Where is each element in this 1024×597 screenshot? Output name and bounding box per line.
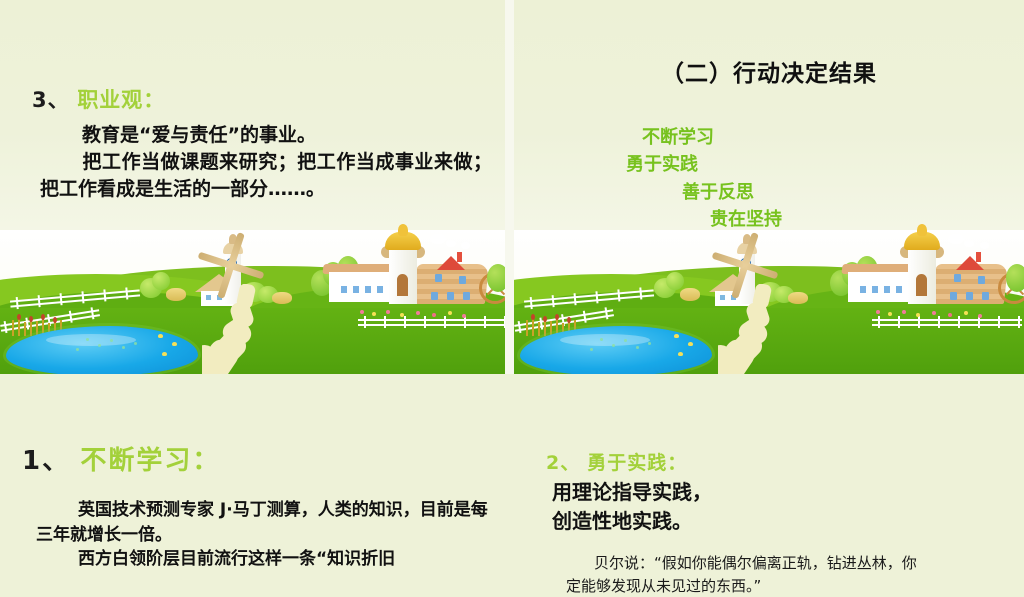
landscape-illustration — [514, 230, 1024, 374]
heading-label: 不断学习： — [80, 446, 220, 476]
bottom-right-quote: 贝尔说：“假如你能偶尔偏离正轨，钻进丛林，你 定能够发现从未见过的东西。” — [566, 552, 1018, 597]
list-item: 贵在坚持 — [514, 206, 1024, 233]
row-divider — [0, 374, 1024, 381]
tree — [1006, 264, 1024, 292]
heading-number: 2、 — [546, 452, 580, 474]
butterfly-icon — [674, 334, 679, 338]
top-left-body: 教育是“爱与责任”的事业。 把工作当做课题来研究；把工作当成事业来做；把工作看成… — [40, 122, 492, 203]
slide-top-left[interactable]: 3、 职业观： 教育是“爱与责任”的事业。 把工作当做课题来研究；把工作当成事业… — [0, 0, 505, 374]
bush — [152, 272, 170, 290]
fence — [872, 316, 1022, 328]
bottom-left-heading: 1、 不断学习： — [22, 440, 220, 477]
body-line: 把工作当做课题来研究；把工作当成事业来做；把工作看成是生活的一部分……。 — [40, 149, 492, 203]
top-left-heading: 3、 职业观： — [32, 84, 165, 114]
bush — [666, 272, 684, 290]
heading-number: 1、 — [22, 446, 70, 476]
landscape-illustration — [0, 230, 505, 374]
list-item: 勇于实践 — [514, 151, 1024, 178]
fence — [358, 316, 505, 328]
top-right-title: （二）行动决定结果 — [514, 54, 1024, 88]
bottom-right-body: 用理论指导实践， 创造性地实践。 — [552, 478, 712, 536]
slide-top-right[interactable]: （二）行动决定结果 不断学习 勇于实践 善于反思 贵在坚持 — [514, 0, 1024, 374]
heading-number: 3、 — [32, 88, 70, 112]
body-line: 用理论指导实践， — [552, 478, 712, 507]
dirt-path — [202, 284, 342, 374]
butterfly-icon — [162, 352, 167, 356]
butterfly-icon — [678, 352, 683, 356]
slide-deck: 3、 职业观： 教育是“爱与责任”的事业。 把工作当做课题来研究；把工作当成事业… — [0, 0, 1024, 577]
dirt-path — [718, 284, 858, 374]
body-line: 西方白领阶层目前流行这样一条“知识折旧 — [36, 547, 502, 572]
heading-label: 勇于实践： — [587, 452, 687, 474]
tree — [487, 264, 505, 292]
body-line: 创造性地实践。 — [552, 507, 712, 536]
list-item: 不断学习 — [514, 124, 1024, 151]
butterfly-icon — [172, 342, 177, 346]
haystack — [166, 288, 186, 301]
column-divider — [505, 0, 514, 374]
farm-buildings — [830, 230, 1020, 314]
top-right-list: 不断学习 勇于实践 善于反思 贵在坚持 — [514, 124, 1024, 233]
bottom-left-body: 英国技术预测专家 J·马丁测算，人类的知识，目前是每三年就增长一倍。 西方白领阶… — [36, 498, 502, 572]
list-item: 善于反思 — [514, 179, 1024, 206]
body-line: 英国技术预测专家 J·马丁测算，人类的知识，目前是每三年就增长一倍。 — [36, 498, 502, 547]
bottom-right-heading: 2、 勇于实践： — [546, 448, 687, 475]
heading-label: 职业观： — [77, 88, 165, 112]
haystack — [680, 288, 700, 301]
body-line: 教育是“爱与责任”的事业。 — [40, 122, 492, 149]
quote-line: 贝尔说：“假如你能偶尔偏离正轨，钻进丛林，你 — [566, 552, 1018, 575]
butterfly-icon — [688, 342, 693, 346]
quote-line: 定能够发现从未见过的东西。” — [566, 575, 1018, 597]
butterfly-icon — [158, 334, 163, 338]
